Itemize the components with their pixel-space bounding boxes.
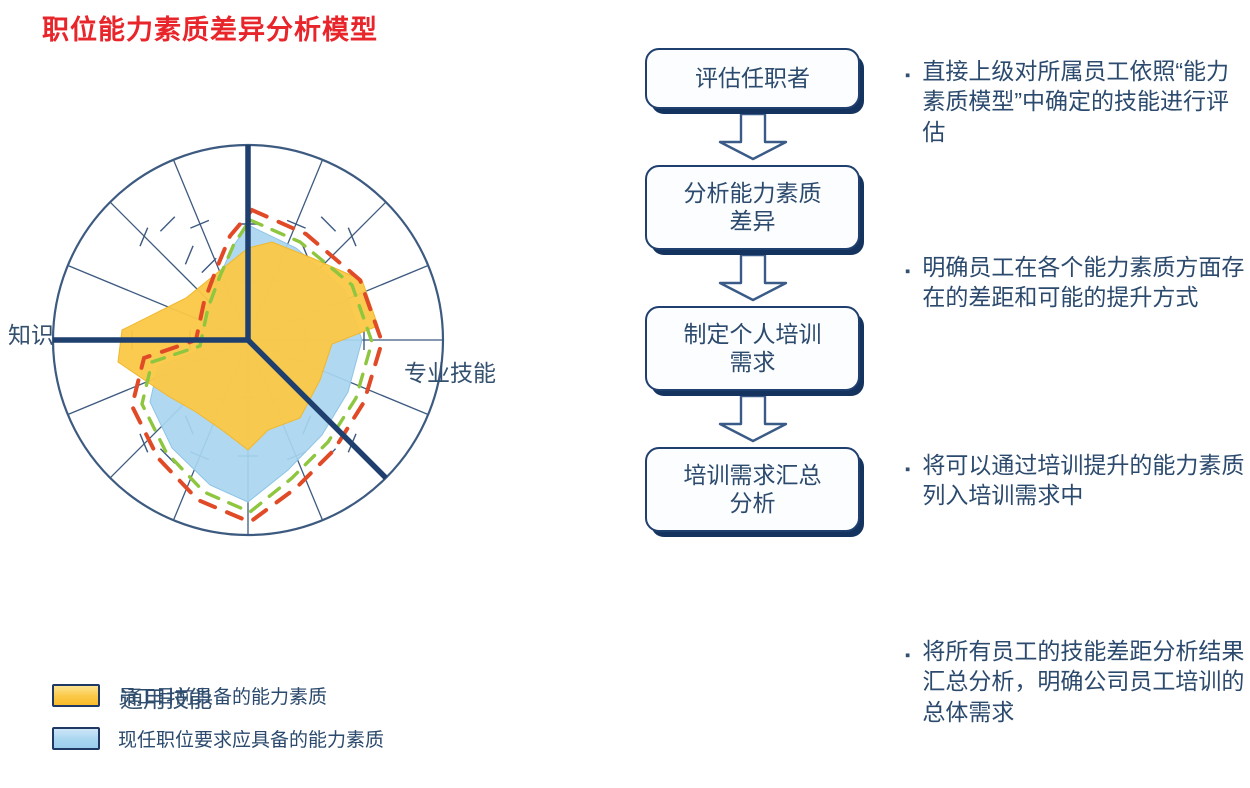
bullet-marker-icon: ▪ <box>905 264 910 279</box>
bullet-marker-icon: ▪ <box>905 462 910 477</box>
flow-box-analyze-gap[interactable]: 分析能力素质 差异 <box>645 165 860 250</box>
process-flow-column: 评估任职者 分析能力素质 差异 制定个人培训 需求 培训需求汇总 分析 <box>645 48 870 532</box>
chart-legend: 员工目前具备的能力素质 现任职位要求应具备的能力素质 <box>52 682 572 768</box>
flow-step-4: 培训需求汇总 分析 <box>645 447 870 532</box>
flow-box-assess-incumbent[interactable]: 评估任职者 <box>645 48 860 109</box>
down-arrow-icon <box>716 394 790 444</box>
bullet-item-4: ▪ 将所有员工的技能差距分析结果汇总分析，明确公司员工培训的总体需求 <box>905 636 1250 727</box>
flow-step-3: 制定个人培训 需求 <box>645 306 870 391</box>
bullet-text-4: 将所有员工的技能差距分析结果汇总分析，明确公司员工培训的总体需求 <box>922 636 1250 727</box>
legend-swatch-current-icon <box>52 684 100 707</box>
bullet-text-3: 将可以通过培训提升的能力素质列入培训需求中 <box>922 450 1250 511</box>
axis-label-professional: 专业技能 <box>404 354 496 388</box>
legend-item-current: 员工目前具备的能力素质 <box>52 682 572 709</box>
axis-label-knowledge: 知识 <box>8 316 54 350</box>
down-arrow-icon <box>716 253 790 303</box>
down-arrow-icon <box>716 112 790 162</box>
legend-label-required: 现任职位要求应具备的能力素质 <box>118 725 384 752</box>
bullet-text-1: 直接上级对所属员工依照“能力素质模型”中确定的技能进行评估 <box>922 56 1250 147</box>
page-title: 职位能力素质差异分析模型 <box>42 8 378 47</box>
bullet-item-1: ▪ 直接上级对所属员工依照“能力素质模型”中确定的技能进行评估 <box>905 56 1250 147</box>
flow-step-1: 评估任职者 <box>645 48 870 109</box>
flow-box-training-summary[interactable]: 培训需求汇总 分析 <box>645 447 860 532</box>
bullet-item-2: ▪ 明确员工在各个能力素质方面存在的差距和可能的提升方式 <box>905 252 1250 313</box>
legend-item-required: 现任职位要求应具备的能力素质 <box>52 725 572 752</box>
down-arrow-icon-1 <box>645 109 860 165</box>
down-arrow-icon-2 <box>645 250 860 306</box>
legend-swatch-required-icon <box>52 727 100 750</box>
bullet-item-3: ▪ 将可以通过培训提升的能力素质列入培训需求中 <box>905 450 1250 511</box>
bullet-text-2: 明确员工在各个能力素质方面存在的差距和可能的提升方式 <box>922 252 1250 313</box>
flow-box-training-need[interactable]: 制定个人培训 需求 <box>645 306 860 391</box>
bullet-marker-icon: ▪ <box>905 648 910 663</box>
radar-chart-panel: 知识 专业技能 通用技能 <box>0 130 560 630</box>
down-arrow-icon-3 <box>645 391 860 447</box>
bullet-marker-icon: ▪ <box>905 68 910 83</box>
legend-label-current: 员工目前具备的能力素质 <box>118 682 327 709</box>
flow-step-2: 分析能力素质 差异 <box>645 165 870 250</box>
